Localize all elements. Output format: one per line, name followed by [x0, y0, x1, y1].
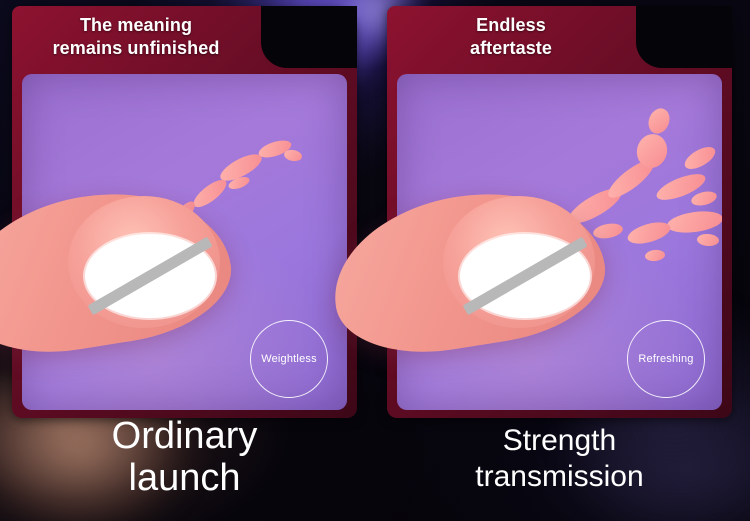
spray-droplet: [644, 249, 665, 262]
caption-left-line1: Ordinary: [12, 415, 357, 457]
spray-droplet: [697, 233, 720, 247]
badge-weightless: Weightless: [250, 320, 328, 398]
caption-left-line2: launch: [12, 457, 357, 499]
spray-droplet: [283, 149, 303, 163]
comparison-image: The meaning remains unfinished Endless a…: [0, 0, 750, 521]
caption-right: Strength transmission: [387, 423, 732, 495]
spray-droplet: [666, 208, 722, 236]
panel-left-title: The meaning remains unfinished: [12, 14, 260, 60]
censor-circle-right: [460, 234, 590, 318]
folder-notch-left: [261, 6, 357, 68]
panel-left-title-line1: The meaning: [12, 14, 260, 37]
panel-right-title-line2: aftertaste: [387, 37, 635, 60]
badge-weightless-label: Weightless: [261, 353, 317, 365]
spray-droplet: [625, 218, 672, 247]
spray-droplet: [592, 222, 624, 241]
censor-slash-left: [88, 237, 213, 315]
spray-droplet: [190, 175, 231, 211]
caption-right-line2: transmission: [387, 459, 732, 495]
folder-notch-right: [636, 6, 732, 68]
spray-droplet: [645, 105, 673, 137]
censor-circle-left: [85, 234, 215, 318]
panel-right-title-line1: Endless: [387, 14, 635, 37]
panel-left-title-line2: remains unfinished: [12, 37, 260, 60]
spray-droplet: [690, 189, 718, 208]
censor-slash-right: [463, 237, 588, 315]
badge-refreshing-label: Refreshing: [638, 353, 693, 365]
spray-droplet: [681, 143, 718, 174]
caption-left: Ordinary launch: [12, 415, 357, 499]
caption-right-line1: Strength: [387, 423, 732, 459]
badge-refreshing: Refreshing: [627, 320, 705, 398]
panel-right-title: Endless aftertaste: [387, 14, 635, 60]
